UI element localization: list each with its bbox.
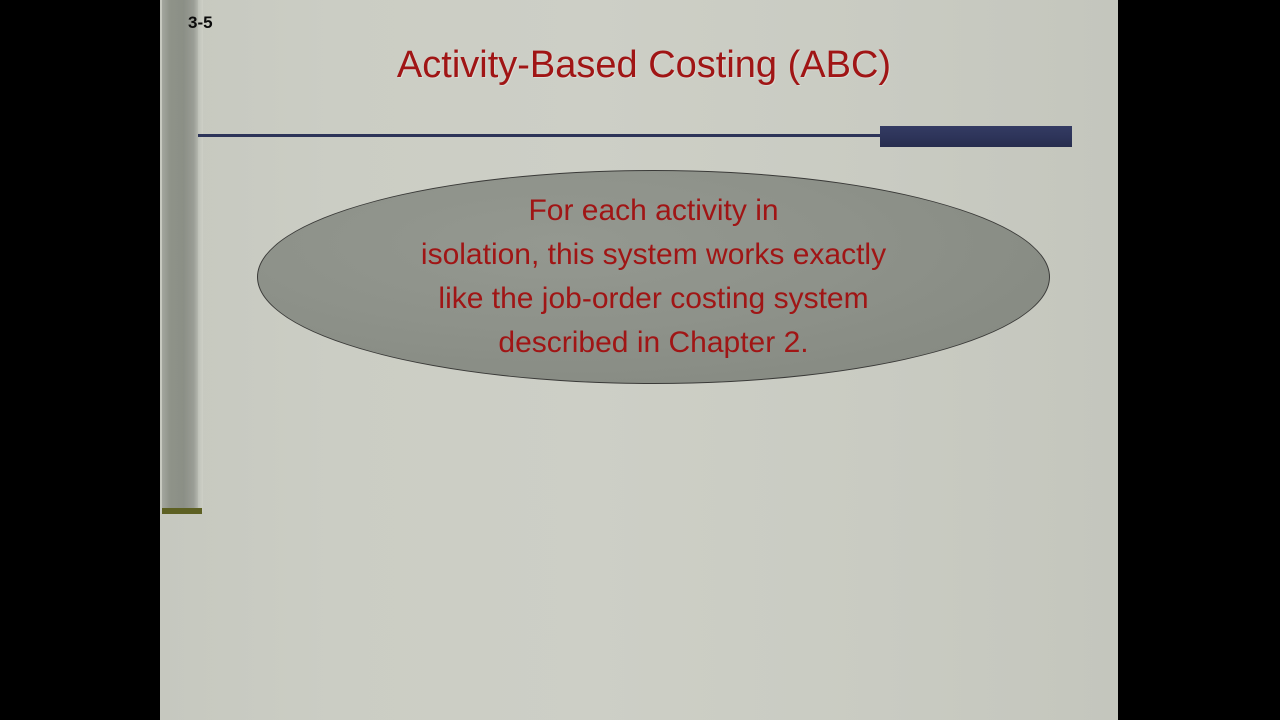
callout-ellipse: For each activity in isolation, this sys… — [257, 170, 1050, 384]
callout-text: For each activity in isolation, this sys… — [324, 189, 984, 365]
sidebar-band-highlight — [198, 0, 203, 512]
callout-line-1: For each activity in — [324, 189, 984, 233]
title-rule-accent-block — [880, 126, 1072, 147]
sidebar-decorative-band — [162, 0, 198, 512]
callout-line-4: described in Chapter 2. — [324, 321, 984, 365]
slide-canvas: 3-5 Activity-Based Costing (ABC) For eac… — [160, 0, 1118, 720]
slide-number: 3-5 — [188, 13, 213, 33]
page-title: Activity-Based Costing (ABC) — [204, 44, 1084, 87]
sidebar-accent-bar — [162, 508, 202, 514]
letterbox-right — [1118, 0, 1280, 720]
title-divider-rule — [198, 134, 920, 137]
callout-line-2: isolation, this system works exactly — [324, 233, 984, 277]
callout-line-3: like the job-order costing system — [324, 277, 984, 321]
letterbox-left — [0, 0, 160, 720]
slide-viewport: 3-5 Activity-Based Costing (ABC) For eac… — [0, 0, 1280, 720]
